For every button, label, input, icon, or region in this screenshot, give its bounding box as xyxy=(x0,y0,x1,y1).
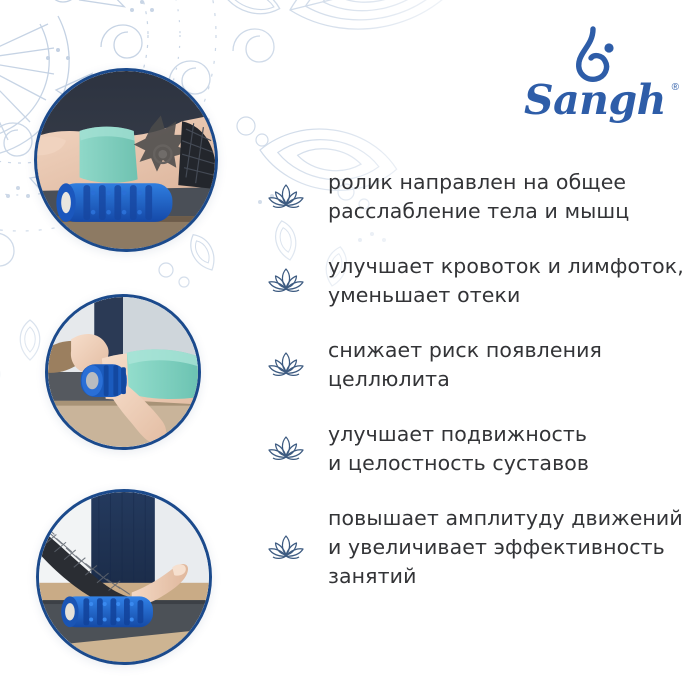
lotus-flower-icon xyxy=(266,348,306,382)
lotus-flower-icon xyxy=(266,264,306,298)
photo-legs-on-roller xyxy=(36,489,212,665)
benefit-item: повышает амплитуду движений и увеличивае… xyxy=(266,504,686,591)
benefit-item: ролик направлен на общее расслабление те… xyxy=(266,168,686,226)
photo-3-image xyxy=(39,492,209,662)
photo-woman-back-on-roller xyxy=(34,68,218,252)
photo-1-image xyxy=(37,71,215,249)
photo-2-image xyxy=(48,297,198,447)
lotus-flower-icon xyxy=(266,531,306,565)
benefit-item: улучшает подвижность и целостность суста… xyxy=(266,420,686,478)
photo-woman-shoulders-on-roller xyxy=(45,294,201,450)
benefit-text: снижает риск появления целлюлита xyxy=(328,336,602,394)
benefit-text: улучшает кровоток и лимфоток, уменьшает … xyxy=(328,252,684,310)
brand-wordmark: Sangh xyxy=(524,76,666,124)
benefit-text: повышает амплитуду движений и увеличивае… xyxy=(328,504,683,591)
registered-trademark-symbol: ® xyxy=(672,82,679,93)
lotus-flower-icon xyxy=(266,432,306,466)
benefit-text: ролик направлен на общее расслабление те… xyxy=(328,168,629,226)
brand-logo: Sangh ® xyxy=(524,24,664,140)
lotus-flower-icon xyxy=(266,180,306,214)
benefits-list: ролик направлен на общее расслабление те… xyxy=(266,168,686,609)
product-infographic-page: Sangh ® xyxy=(0,0,700,700)
benefit-text: улучшает подвижность и целостность суста… xyxy=(328,420,589,478)
benefit-item: улучшает кровоток и лимфоток, уменьшает … xyxy=(266,252,686,310)
benefit-item: снижает риск появления целлюлита xyxy=(266,336,686,394)
